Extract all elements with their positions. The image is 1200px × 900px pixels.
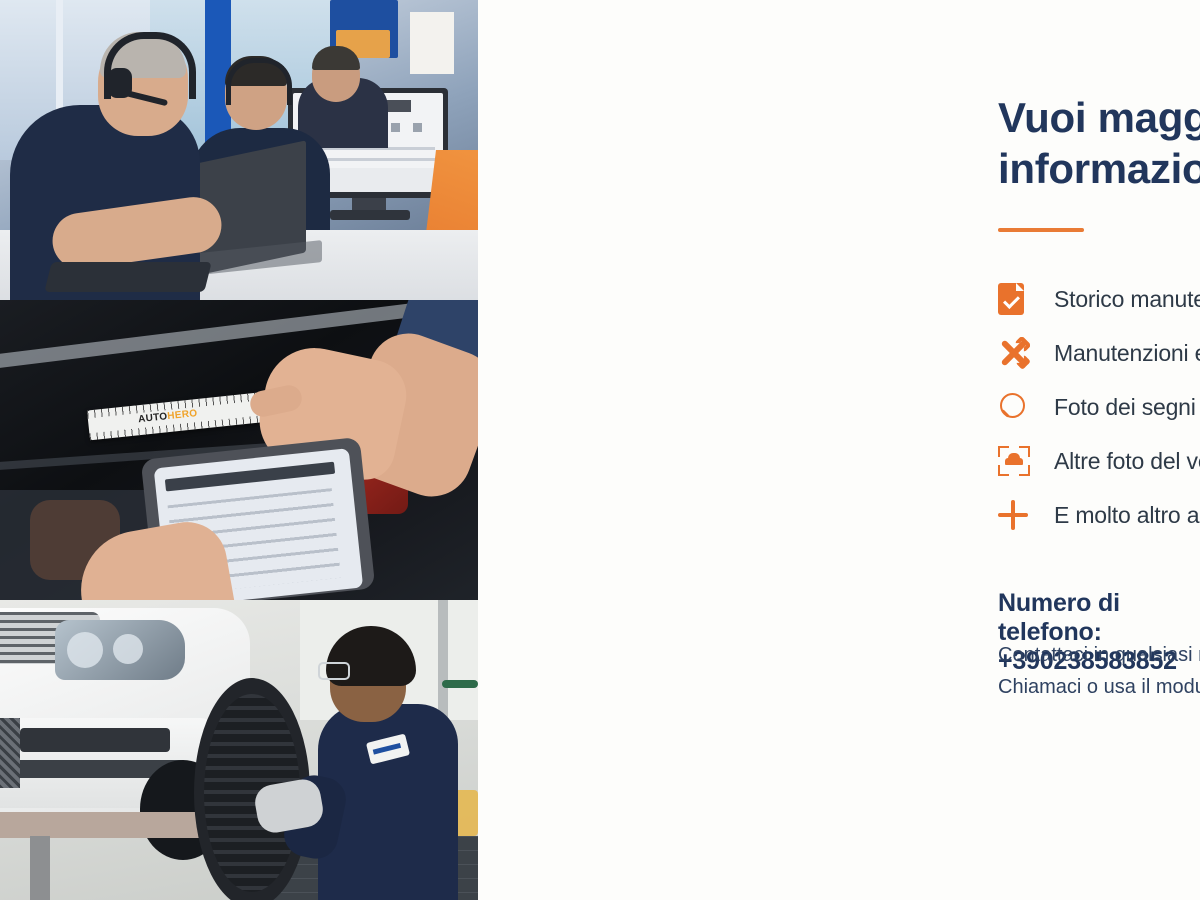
title-underline-rule bbox=[998, 228, 1084, 232]
paper-sheet-decor bbox=[410, 12, 454, 74]
car-scan-icon bbox=[998, 446, 1054, 476]
tablet-on-desk-decor bbox=[44, 262, 211, 292]
feature-item-altre-foto: Altre foto del veicolo bbox=[998, 434, 1200, 488]
headset-mid-decor bbox=[226, 58, 292, 105]
document-check-icon bbox=[998, 283, 1054, 315]
plus-icon bbox=[998, 500, 1054, 530]
photo-column: AUTOHERO bbox=[0, 0, 478, 900]
contact-line-1: Contattaci in qualsiasi momento per ulte… bbox=[998, 640, 1200, 672]
magnifier-icon bbox=[998, 391, 1054, 423]
photo-workshop bbox=[0, 600, 478, 900]
feature-item-storico: Storico manutentivo bbox=[998, 272, 1200, 326]
feature-label: Manutenzioni effettuate bbox=[1054, 340, 1200, 367]
monitor-base-decor bbox=[330, 210, 410, 220]
content-panel: Vuoi maggiori informazioni su ? Storico … bbox=[478, 0, 1200, 900]
feature-item-manutenzioni: Manutenzioni effettuate bbox=[998, 326, 1200, 380]
promo-banner: AUTOHERO bbox=[0, 0, 1200, 900]
car-lift-leg-decor bbox=[30, 836, 50, 900]
feature-list: Storico manutentivo Manutenzioni effettu… bbox=[998, 272, 1200, 542]
workshop-hose-decor bbox=[442, 680, 478, 688]
contact-description: Contattaci in qualsiasi momento per ulte… bbox=[998, 640, 1200, 703]
feature-label: Foto dei segni di usura bbox=[1054, 394, 1200, 421]
feature-label: Altre foto del veicolo bbox=[1054, 448, 1200, 475]
lower-grille-decor bbox=[0, 718, 20, 788]
bumper-vent-decor bbox=[20, 728, 170, 752]
contact-line-2: Chiamaci o usa il modulo di contatto. bbox=[998, 672, 1200, 704]
feature-item-altro: E molto altro ancora bbox=[998, 488, 1200, 542]
feature-label: Storico manutentivo bbox=[1054, 286, 1200, 313]
headline-line-2: informazioni su ? bbox=[998, 143, 1200, 194]
page-title: Vuoi maggiori informazioni su ? bbox=[998, 92, 1200, 194]
headline-line-1: Vuoi maggiori bbox=[998, 92, 1200, 143]
tools-cross-icon bbox=[998, 337, 1054, 369]
car-headlight-decor bbox=[55, 620, 185, 680]
mechanic-glasses-decor bbox=[318, 662, 350, 680]
feature-label: E molto altro ancora bbox=[1054, 502, 1200, 529]
photo-inspection: AUTOHERO bbox=[0, 300, 478, 600]
photo-call-center bbox=[0, 0, 478, 300]
feature-item-foto-usura: Foto dei segni di usura bbox=[998, 380, 1200, 434]
